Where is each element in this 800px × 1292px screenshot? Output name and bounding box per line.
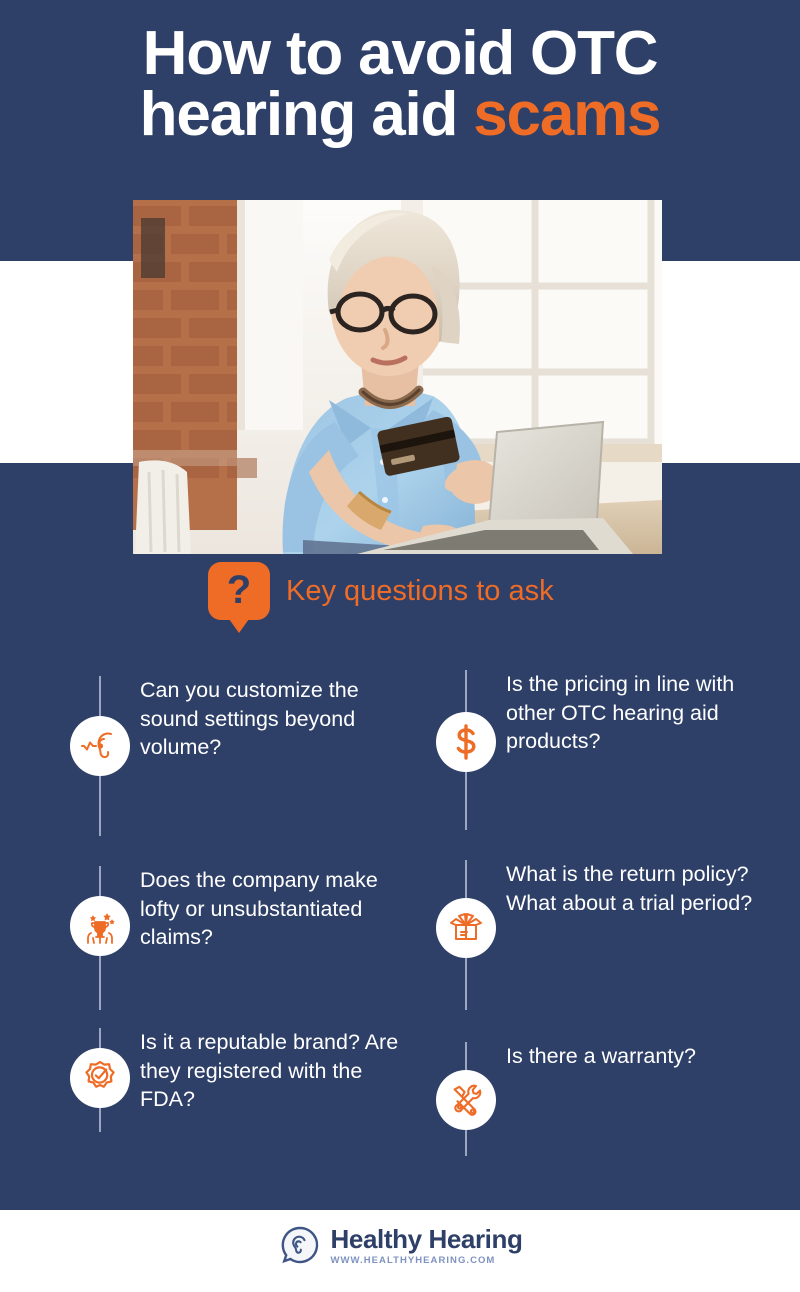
brand-name: Healthy Hearing (331, 1226, 523, 1253)
ear-sound-icon (70, 716, 130, 776)
logo-text-block: Healthy Hearing WWW.HEALTHYHEARING.COM (331, 1226, 523, 1266)
question-text: Can you customize the sound settings bey… (140, 676, 422, 762)
hands-holding-trophy-icon (70, 896, 130, 956)
key-questions-header: ? Key questions to ask (208, 562, 554, 620)
question-text: Is it a reputable brand? Are they regist… (140, 1028, 422, 1114)
title-line-1: How to avoid OTC (0, 24, 800, 85)
key-questions-label: Key questions to ask (286, 575, 554, 608)
question-text: Is there a warranty? (506, 1042, 788, 1071)
footer-logo[interactable]: Healthy Hearing WWW.HEALTHYHEARING.COM (0, 1224, 800, 1268)
title-line-2: hearing aid scams (0, 85, 800, 146)
dollar-sign-icon (436, 712, 496, 772)
page-title: How to avoid OTC hearing aid scams (0, 24, 800, 146)
hero-photo (133, 200, 662, 554)
question-text: Does the company make lofty or unsubstan… (140, 866, 422, 952)
hammer-wrench-icon (436, 1070, 496, 1130)
title-line-2-plain: hearing aid (140, 80, 474, 149)
question-text: Is the pricing in line with other OTC he… (506, 670, 788, 756)
ear-speech-bubble-logo-icon (278, 1224, 322, 1268)
brand-url: WWW.HEALTHYHEARING.COM (331, 1255, 523, 1266)
question-text: What is the return policy? What about a … (506, 860, 788, 917)
open-box-icon (436, 898, 496, 958)
verified-badge-check-icon (70, 1048, 130, 1108)
title-line-2-accent: scams (473, 80, 660, 149)
question-mark-glyph: ? (227, 570, 251, 610)
question-mark-bubble-icon: ? (208, 562, 270, 620)
infographic-root: How to avoid OTC hearing aid scams (0, 0, 800, 1292)
